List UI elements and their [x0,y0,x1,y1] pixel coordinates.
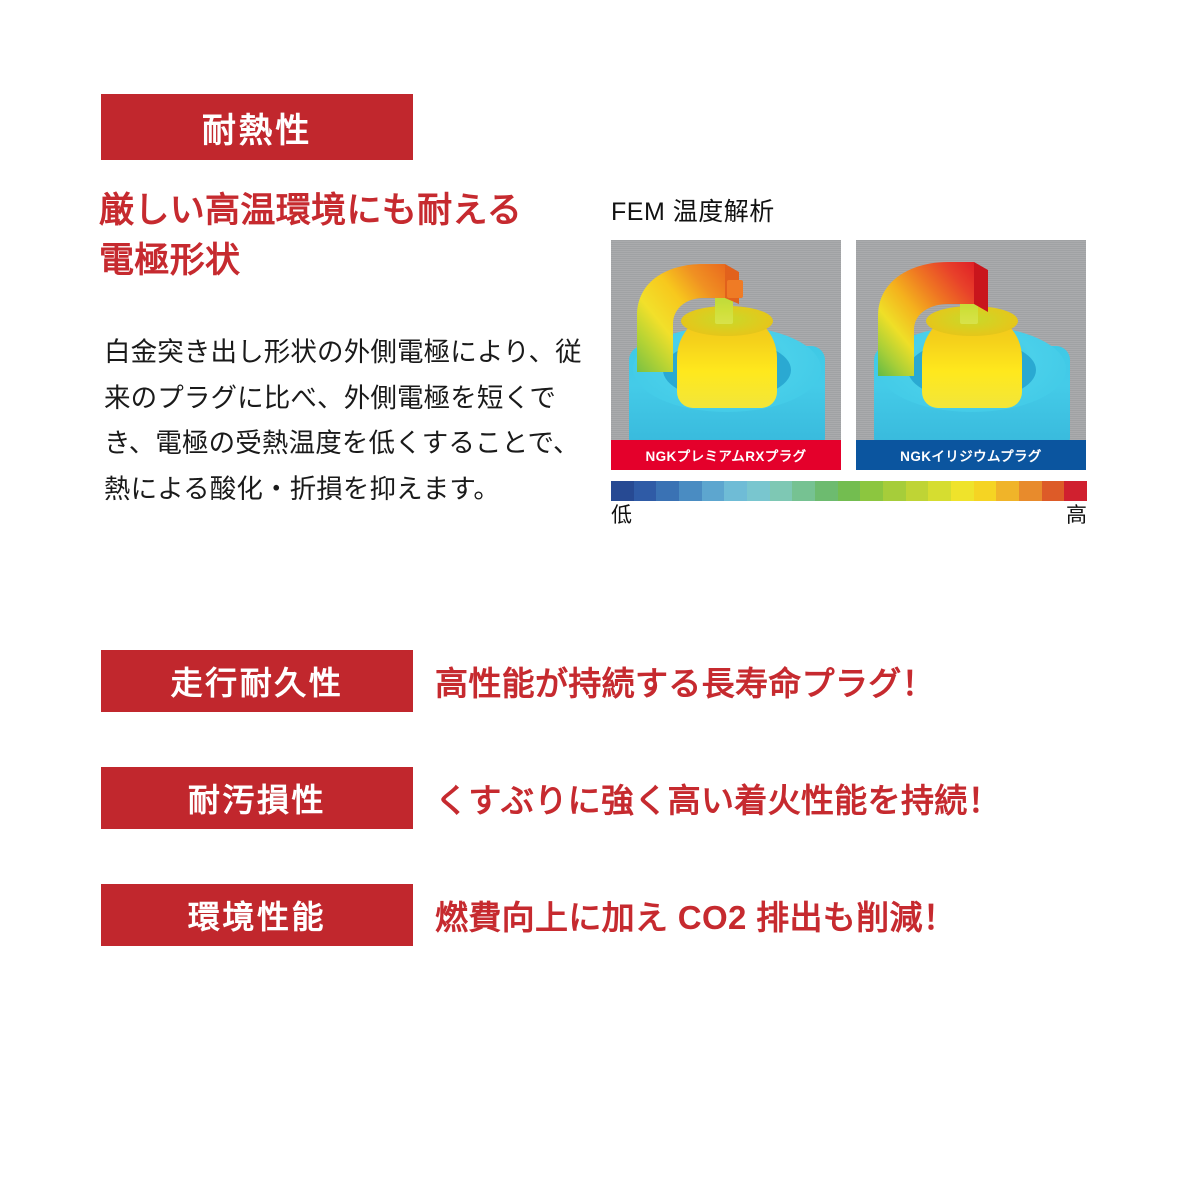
ground-electrode-thermal-shape [629,260,747,376]
feature-row: 耐汚損性くすぶりに強く高い着火性能を持続！ [101,767,1061,829]
scale-low-label: 低 [611,504,632,527]
colorbar-band-14 [928,481,951,501]
fem-analysis-title: FEM 温度解析 [611,200,1087,225]
feature-badge: 耐汚損性 [101,767,413,829]
heat-resistance-headline: 厳しい高温環境にも耐える電極形状 [99,186,599,285]
feature-badge: 環境性能 [101,884,413,946]
feature-badge: 走行耐久性 [101,650,413,712]
colorbar-band-20 [1064,481,1087,501]
feature-row-list: 走行耐久性高性能が持続する長寿命プラグ！耐汚損性くすぶりに強く高い着火性能を持続… [101,650,1061,1001]
colorbar-band-4 [702,481,725,501]
scale-high-label: 高 [1066,504,1087,527]
colorbar-band-9 [815,481,838,501]
colorbar-band-16 [974,481,997,501]
ground-electrode-thermal-shape [874,260,992,376]
colorbar-band-18 [1019,481,1042,501]
colorbar-band-2 [656,481,679,501]
colorbar-band-19 [1042,481,1065,501]
heat-resistance-badge: 耐熱性 [101,94,413,160]
fem-panel-group: NGKプレミアムRXプラグ [611,240,1087,470]
feature-row: 環境性能燃費向上に加え CO2 排出も削減！ [101,884,1061,946]
fem-panel-iridium: NGKイリジウムプラグ [856,240,1086,470]
fem-thermal-image-iridium [856,240,1086,440]
temperature-scale-labels: 低 高 [611,504,1087,527]
colorbar-band-6 [747,481,770,501]
colorbar-band-8 [792,481,815,501]
colorbar-band-7 [770,481,793,501]
colorbar-band-1 [634,481,657,501]
colorbar-band-0 [611,481,634,501]
temperature-colorbar [611,481,1087,501]
feature-row: 走行耐久性高性能が持続する長寿命プラグ！ [101,650,1061,712]
colorbar-band-11 [860,481,883,501]
fem-panel-premium-rx: NGKプレミアムRXプラグ [611,240,841,470]
fem-caption-premium-rx: NGKプレミアムRXプラグ [611,440,841,470]
feature-text: くすぶりに強く高い着火性能を持続！ [435,774,1001,822]
colorbar-band-17 [996,481,1019,501]
heat-resistance-body-text: 白金突き出し形状の外側電極により、従来のプラグに比べ、外側電極を短くでき、電極の… [104,330,584,512]
colorbar-band-10 [838,481,861,501]
fem-caption-iridium: NGKイリジウムプラグ [856,440,1086,470]
fem-thermal-image-premium-rx [611,240,841,440]
colorbar-band-3 [679,481,702,501]
feature-text: 燃費向上に加え CO2 排出も削減！ [435,891,956,939]
colorbar-band-15 [951,481,974,501]
colorbar-band-12 [883,481,906,501]
feature-text: 高性能が持続する長寿命プラグ！ [435,657,935,705]
colorbar-band-13 [906,481,929,501]
fem-analysis-block: FEM 温度解析 [611,200,1087,527]
colorbar-band-5 [724,481,747,501]
